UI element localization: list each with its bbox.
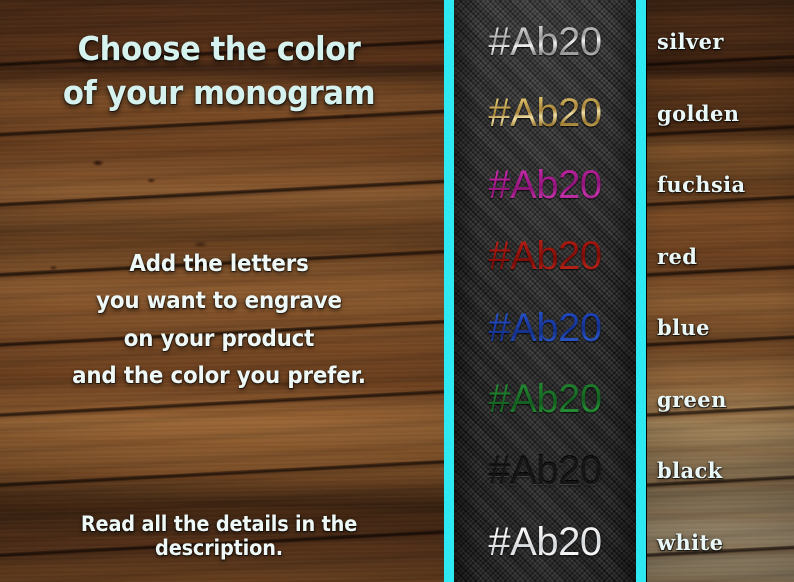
color-label-green: green: [657, 387, 727, 412]
swatch-sample-text-blue: #Ab20: [488, 308, 601, 348]
swatch-sample-text-red: #Ab20: [488, 236, 601, 276]
swatch-sample-blue[interactable]: #Ab20: [454, 292, 636, 364]
instruction-text: Add the letters you want to engrave on y…: [15, 246, 422, 396]
footer-note: Read all the details in the description.: [18, 512, 421, 560]
color-label-row-green[interactable]: green: [646, 364, 794, 436]
page-title-line-2: of your monogram: [15, 71, 422, 115]
color-swatch-panel: #Ab20 #Ab20 #Ab20 #Ab20 #Ab20 #Ab20 #Ab2…: [454, 0, 636, 582]
color-label-row-white[interactable]: white: [646, 507, 794, 579]
swatch-sample-list: #Ab20 #Ab20 #Ab20 #Ab20 #Ab20 #Ab20 #Ab2…: [454, 0, 636, 582]
color-label-golden: golden: [657, 101, 739, 126]
swatch-sample-text-fuchsia: #Ab20: [488, 165, 601, 205]
cyan-divider-right: [636, 0, 646, 582]
swatch-sample-text-white: #Ab20: [488, 522, 601, 562]
swatch-sample-golden[interactable]: #Ab20: [454, 78, 636, 150]
swatch-sample-silver[interactable]: #Ab20: [454, 6, 636, 78]
swatch-sample-white[interactable]: #Ab20: [454, 507, 636, 579]
swatch-sample-black[interactable]: #Ab20: [454, 435, 636, 507]
color-label-blue: blue: [657, 315, 710, 340]
instruction-line-4: and the color you prefer.: [15, 358, 422, 395]
color-label-red: red: [657, 244, 697, 269]
cyan-divider-left: [444, 0, 454, 582]
color-label-row-black[interactable]: black: [646, 435, 794, 507]
color-label-list: silver golden fuchsia red blue green bla…: [646, 0, 794, 582]
color-label-row-fuchsia[interactable]: fuchsia: [646, 149, 794, 221]
swatch-sample-text-golden: #Ab20: [488, 93, 601, 133]
instruction-line-3: on your product: [15, 321, 422, 358]
color-label-black: black: [657, 458, 723, 483]
color-label-row-red[interactable]: red: [646, 221, 794, 293]
swatch-sample-green[interactable]: #Ab20: [454, 364, 636, 436]
promo-graphic: Choose the color of your monogram Add th…: [0, 0, 794, 582]
color-label-silver: silver: [657, 29, 724, 54]
color-label-white: white: [657, 530, 723, 555]
swatch-sample-text-green: #Ab20: [488, 379, 601, 419]
color-label-row-silver[interactable]: silver: [646, 6, 794, 78]
instruction-panel: Choose the color of your monogram Add th…: [0, 0, 445, 582]
color-label-row-blue[interactable]: blue: [646, 292, 794, 364]
page-title: Choose the color of your monogram: [15, 27, 422, 115]
color-label-row-golden[interactable]: golden: [646, 78, 794, 150]
swatch-sample-fuchsia[interactable]: #Ab20: [454, 149, 636, 221]
color-label-fuchsia: fuchsia: [657, 172, 746, 197]
swatch-sample-text-silver: #Ab20: [488, 22, 601, 62]
instruction-line-2: you want to engrave: [15, 283, 422, 320]
page-title-line-1: Choose the color: [15, 27, 422, 71]
instruction-line-1: Add the letters: [15, 246, 422, 283]
swatch-sample-red[interactable]: #Ab20: [454, 221, 636, 293]
swatch-sample-text-black: #Ab20: [488, 451, 601, 491]
